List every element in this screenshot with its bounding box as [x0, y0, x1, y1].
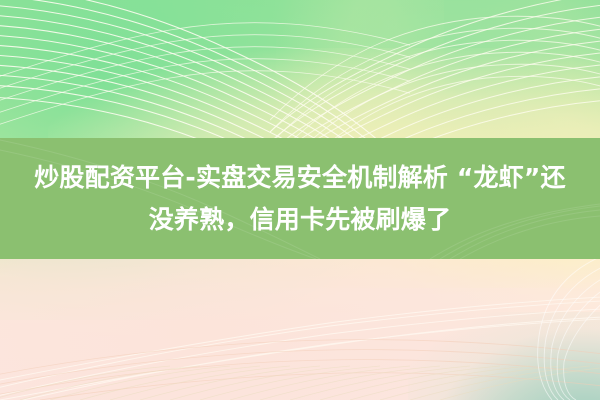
page-title-line-1: 炒股配资平台-实盘交易安全机制解析 “龙虾”还 [34, 163, 566, 192]
article-banner: 炒股配资平台-实盘交易安全机制解析 “龙虾”还 没养熟，信用卡先被刷爆了 [0, 0, 600, 400]
title-band: 炒股配资平台-实盘交易安全机制解析 “龙虾”还 没养熟，信用卡先被刷爆了 [0, 138, 600, 259]
page-title: 炒股配资平台-实盘交易安全机制解析 “龙虾”还 没养熟，信用卡先被刷爆了 [0, 157, 600, 241]
background-teal-bottom-right [408, 312, 600, 400]
page-title-line-2: 没养熟，信用卡先被刷爆了 [149, 205, 451, 234]
